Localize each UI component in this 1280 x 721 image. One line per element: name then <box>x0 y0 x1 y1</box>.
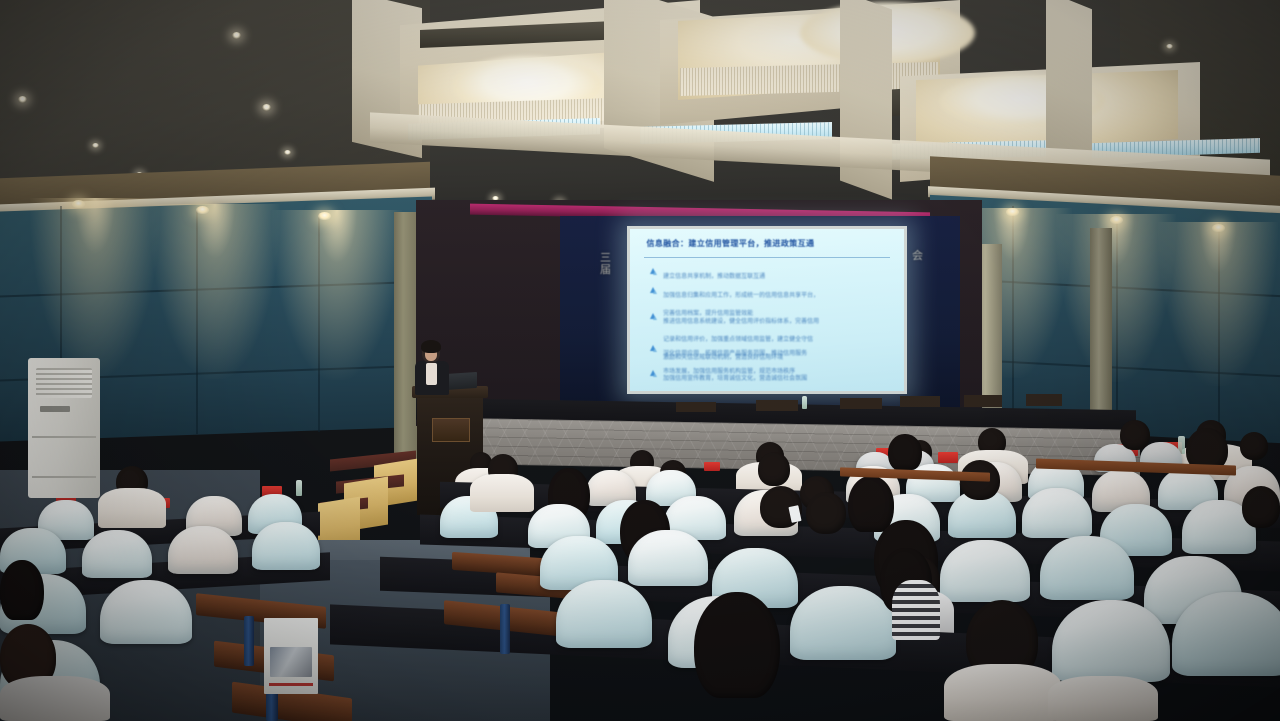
seat-cover <box>252 522 320 570</box>
seat-cover <box>1052 600 1170 682</box>
wall-spotlight <box>72 200 85 208</box>
wall-panel-seam <box>1116 214 1118 434</box>
ceiling-downlight <box>284 150 291 155</box>
slide-bullet-line: 推进信用信息系统建设，健全信用评价指标体系，完善信用 <box>663 319 819 325</box>
aisle-post <box>500 604 510 654</box>
seat-cover <box>790 586 896 660</box>
slide-title-underline <box>644 257 891 258</box>
name-placard <box>704 462 720 471</box>
slide-title: 信息融合：建立信用管理平台，推进政策互通 <box>646 239 893 249</box>
wall-panel-seam <box>1218 222 1220 436</box>
seat-cover <box>168 526 238 574</box>
attendee-head <box>806 492 846 534</box>
seat-cover <box>100 580 192 644</box>
attendee-torso <box>98 488 166 528</box>
attendee-torso <box>944 664 1062 721</box>
wall-spotlight <box>1110 216 1123 224</box>
stage-object <box>900 396 940 407</box>
projection-screen: 信息融合：建立信用管理平台，推进政策互通 建立信息共享机制，推动数据互联互通 加… <box>630 229 904 391</box>
wall-spotlight <box>196 206 209 214</box>
wall-spotlight <box>1212 224 1225 232</box>
stage-object <box>756 400 798 411</box>
wall-panel-seam <box>318 214 320 432</box>
water-bottle <box>802 396 807 409</box>
aisle-post <box>244 616 254 666</box>
slide-bullet-text: 建立信息共享机制，推动数据互联互通 <box>663 265 890 283</box>
auditorium-photo: 三届 会 信息融合：建立信用管理平台，推进政策互通 建立信息共享机制，推动数据互… <box>0 0 1280 721</box>
projection-screen-frame: 信息融合：建立信用管理平台，推进政策互通 建立信息共享机制，推动数据互联互通 加… <box>627 226 907 394</box>
ceiling-downlight <box>18 96 27 103</box>
attendee-head <box>1242 486 1280 528</box>
attendee-torso <box>0 676 110 721</box>
tote-bag-on-floor <box>264 618 318 694</box>
slide-bullet-line: 建立信息共享机制，推动数据互联互通 <box>663 274 765 280</box>
seat-cover <box>1022 488 1092 538</box>
seat-cover <box>82 530 152 578</box>
slide-bullet-line: 加强信用宣传教育，培育诚信文化，营造诚信社会氛围 <box>663 376 807 382</box>
air-conditioner-seam <box>32 436 96 438</box>
attendee-head <box>1120 420 1150 450</box>
slide-bullet-line: 加强信息归集和应用工作，形成统一的信用信息共享平台， <box>663 293 819 299</box>
attendee-torso <box>470 474 534 512</box>
seat-cover <box>1040 536 1134 600</box>
wall-spotlight <box>1006 208 1019 216</box>
blue-triangle-bullet-icon <box>649 343 658 352</box>
attendee-head <box>0 560 44 620</box>
ceiling-downlight <box>92 143 99 148</box>
blue-triangle-bullet-icon <box>649 285 658 294</box>
attendee-head <box>694 592 780 698</box>
seat-cover <box>556 580 652 648</box>
tote-bag-stripe <box>269 683 312 686</box>
name-placard <box>938 452 958 463</box>
wall-panel-seam <box>1012 206 1014 432</box>
slide-bullet: 建立信息共享机制，推动数据互联互通 <box>649 265 890 283</box>
slide-bullet: 加强信用宣传教育，培育诚信文化，营造诚信社会氛围 <box>649 367 890 385</box>
blue-triangle-bullet-icon <box>649 368 658 377</box>
attendee-head <box>758 452 790 486</box>
wall-panel-seam <box>196 210 198 434</box>
ceiling-beam <box>840 0 892 199</box>
stage-object <box>840 398 882 409</box>
wall-spotlight <box>318 212 331 220</box>
attendee-head <box>1240 432 1268 460</box>
speaker-hair <box>421 340 441 353</box>
attendee-checkered-shirt <box>892 580 940 640</box>
seat-cover <box>940 540 1030 602</box>
seat-cover <box>628 530 708 586</box>
attendee-torso <box>1048 676 1158 721</box>
slide-bullet-text: 加强信用宣传教育，培育诚信文化，营造诚信社会氛围 <box>663 367 890 385</box>
stage-pilaster-right <box>1090 228 1112 436</box>
floor-standing-air-conditioner <box>28 358 100 498</box>
water-bottle <box>296 480 302 496</box>
stage-banner-right: 会 <box>908 250 928 262</box>
ceiling-downlight <box>232 32 241 39</box>
air-conditioner-grill <box>36 368 92 398</box>
tote-bag-graphic <box>270 647 311 677</box>
stage-object <box>1026 394 1062 406</box>
lectern-front-panel <box>432 418 470 442</box>
slide-bullet-line: 深化信用应用，拓展信用产品服务范围，推动信用服务 <box>663 351 807 357</box>
blue-triangle-bullet-icon <box>649 266 658 275</box>
speaker-shirt <box>426 363 437 385</box>
attendee-head <box>848 476 894 532</box>
stage-object <box>964 395 1002 407</box>
stage-object <box>676 402 716 412</box>
blue-triangle-bullet-icon <box>649 311 658 320</box>
attendee-head <box>888 434 922 470</box>
air-conditioner-seam <box>32 476 96 478</box>
ceiling-downlight <box>1166 44 1173 49</box>
presenter-laptop <box>445 372 477 390</box>
ceiling-downlight <box>262 104 271 111</box>
stage-banner-left: 三届 <box>596 252 616 276</box>
air-conditioner-badge <box>40 406 70 412</box>
